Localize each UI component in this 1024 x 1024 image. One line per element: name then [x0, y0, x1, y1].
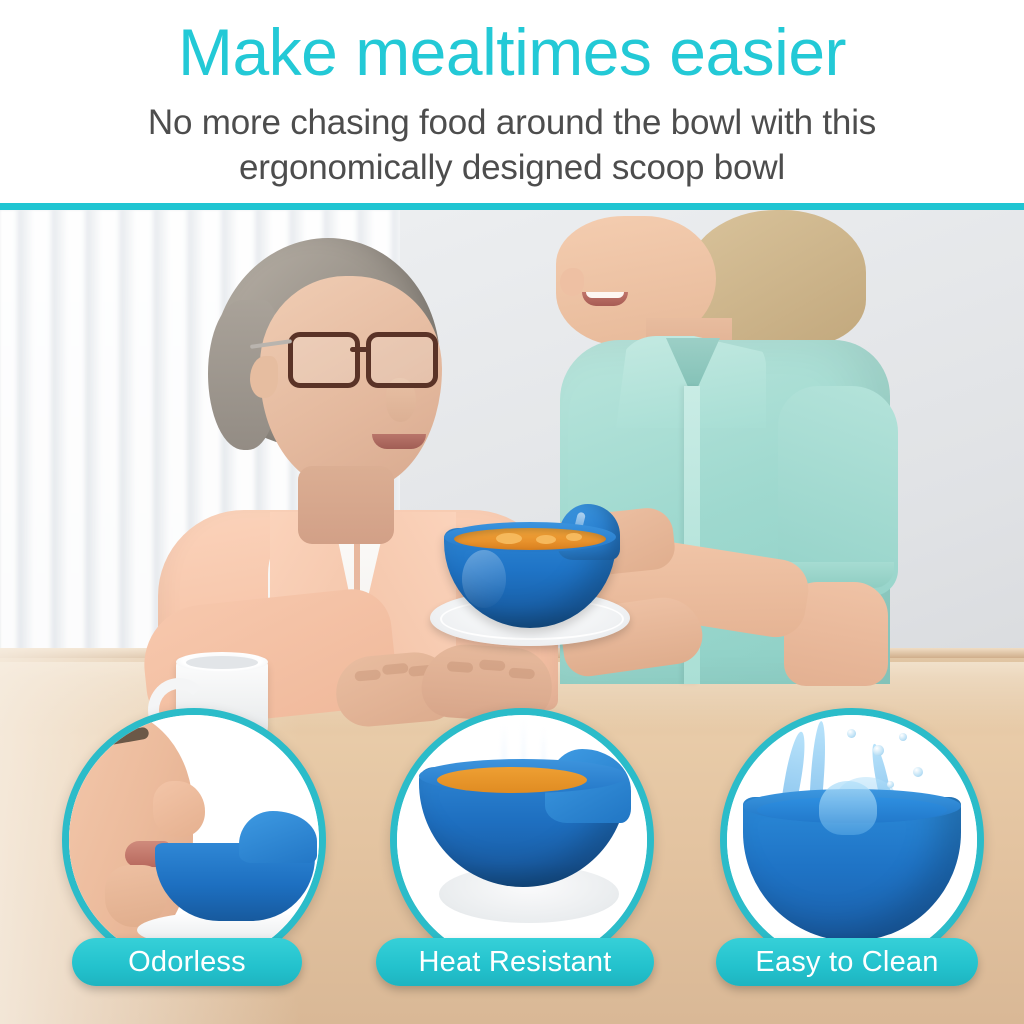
knuckle [354, 669, 381, 681]
page-title: Make mealtimes easier [0, 14, 1024, 90]
eyeglasses [288, 332, 438, 380]
thumbnail-inner [727, 715, 977, 965]
caregiver-teeth [586, 292, 624, 298]
mug-interior [186, 656, 258, 669]
subtitle-line-1: No more chasing food around the bowl wit… [12, 100, 1012, 145]
feature-easy-to-clean[interactable]: Easy to Clean [700, 708, 990, 1008]
soup-garnish [496, 533, 522, 544]
soup-garnish [566, 533, 582, 541]
knuckle [447, 661, 474, 673]
water-droplet [913, 767, 923, 777]
soup-garnish [536, 535, 556, 544]
elderly-neck [298, 466, 394, 544]
profile-nose [153, 781, 205, 837]
feature-odorless[interactable]: Odorless [42, 708, 332, 1008]
feature-thumbnail-heat-resistant [390, 708, 654, 972]
elderly-smile [372, 434, 426, 449]
water-droplet [899, 733, 907, 741]
thumbnail-inner [69, 715, 319, 965]
feature-badge-odorless[interactable]: Odorless [72, 938, 302, 986]
caregiver-nose [560, 268, 584, 296]
soup-surface [454, 528, 606, 550]
eyeglass-lens-right [366, 332, 438, 388]
elderly-ear [250, 356, 278, 398]
eyeglass-bridge [350, 347, 368, 352]
knuckle [479, 659, 506, 671]
scoop-bowl-product [418, 500, 648, 660]
subtitle-line-2: ergonomically designed scoop bowl [12, 145, 1012, 190]
feature-badge-easy-to-clean[interactable]: Easy to Clean [716, 938, 978, 986]
feature-row: Odorless Heat Resistant [0, 708, 1024, 1024]
feature-heat-resistant[interactable]: Heat Resistant [370, 708, 660, 1008]
thumb1-scoop-lip [239, 811, 317, 863]
water-droplet [873, 745, 884, 756]
thumb2-soup [437, 767, 587, 793]
feature-thumbnail-easy-to-clean [720, 708, 984, 972]
eyeglass-lens-left [288, 332, 360, 388]
knuckle [382, 663, 409, 675]
feature-badge-heat-resistant[interactable]: Heat Resistant [376, 938, 654, 986]
thumbnail-inner [397, 715, 647, 965]
water-droplet [847, 729, 856, 738]
page-subtitle: No more chasing food around the bowl wit… [12, 100, 1012, 190]
feature-thumbnail-odorless [62, 708, 326, 972]
product-infographic: Make mealtimes easier No more chasing fo… [0, 0, 1024, 1024]
water-splash-center [819, 781, 877, 835]
water-droplet [887, 781, 894, 788]
bowl-gloss [462, 550, 506, 608]
header-banner: Make mealtimes easier No more chasing fo… [0, 0, 1024, 208]
header-divider [0, 203, 1024, 210]
